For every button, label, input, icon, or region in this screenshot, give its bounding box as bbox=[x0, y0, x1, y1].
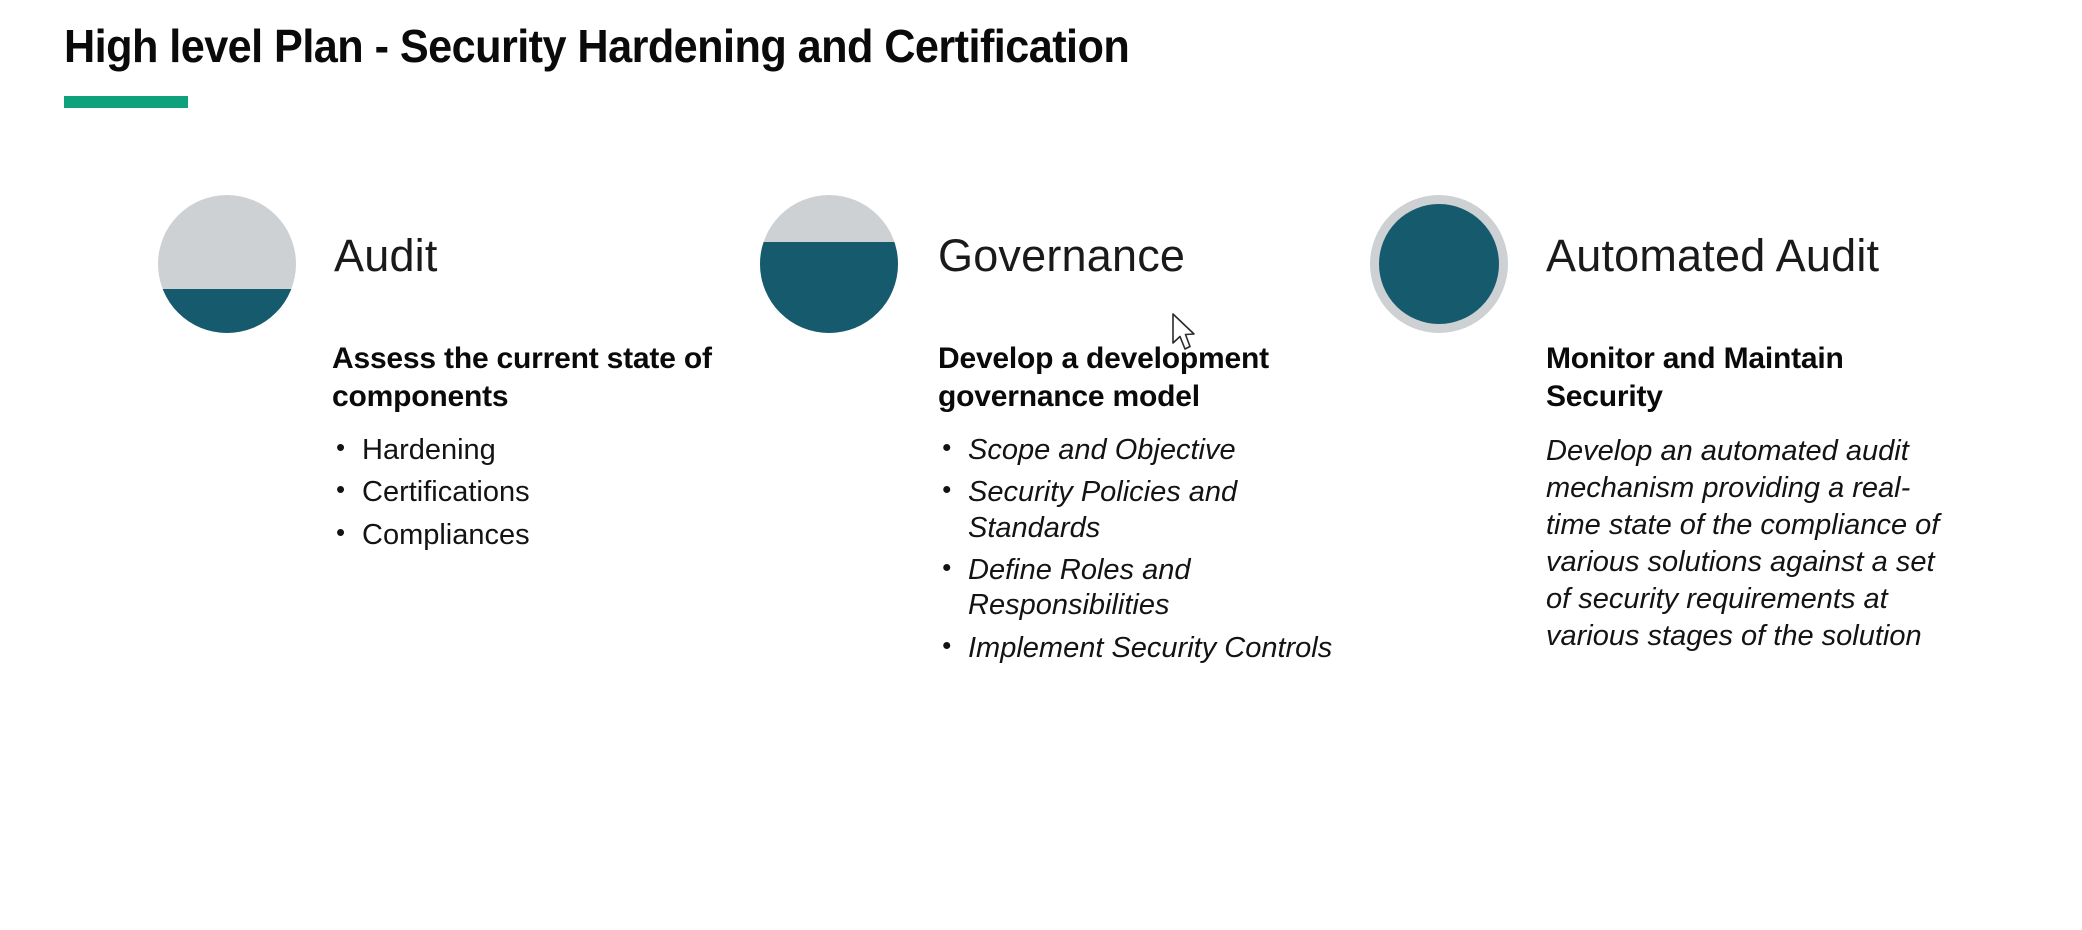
column-title-governance: Governance bbox=[938, 230, 1185, 282]
column-subtitle-governance: Develop a development governance model bbox=[938, 340, 1338, 417]
slide-canvas: High level Plan - Security Hardening and… bbox=[0, 0, 2082, 930]
columns-container: Audit Assess the current state of compon… bbox=[0, 190, 2082, 890]
gauge-icon-audit bbox=[158, 195, 296, 333]
page-title: High level Plan - Security Hardening and… bbox=[64, 22, 1129, 72]
list-item: Hardening bbox=[332, 433, 752, 468]
column-automated-audit: Automated Audit Monitor and Maintain Sec… bbox=[1370, 190, 1990, 340]
list-item: Certifications bbox=[332, 475, 752, 510]
column-title-automated-audit: Automated Audit bbox=[1546, 230, 1879, 282]
column-header-audit: Audit bbox=[158, 190, 758, 340]
column-title-audit: Audit bbox=[334, 230, 438, 282]
gauge-icon-governance bbox=[760, 195, 898, 333]
gauge-icon-automated-audit bbox=[1370, 195, 1508, 333]
column-governance: Governance Develop a development governa… bbox=[760, 190, 1360, 340]
list-item: Scope and Objective bbox=[938, 433, 1338, 468]
list-item: Implement Security Controls bbox=[938, 631, 1338, 666]
bullet-list-audit: HardeningCertificationsCompliances bbox=[332, 433, 752, 553]
column-body-audit: Assess the current state of components H… bbox=[332, 340, 752, 560]
column-header-automated-audit: Automated Audit bbox=[1370, 190, 1990, 340]
list-item: Security Policies and Standards bbox=[938, 475, 1338, 546]
column-body-governance: Develop a development governance model S… bbox=[938, 340, 1338, 673]
column-subtitle-automated-audit: Monitor and Maintain Security bbox=[1546, 340, 1966, 417]
list-item: Compliances bbox=[332, 518, 752, 553]
column-paragraph-automated-audit: Develop an automated audit mechanism pro… bbox=[1546, 433, 1946, 656]
title-accent-bar bbox=[64, 96, 188, 108]
column-header-governance: Governance bbox=[760, 190, 1360, 340]
column-subtitle-audit: Assess the current state of components bbox=[332, 340, 752, 417]
bullet-list-governance: Scope and ObjectiveSecurity Policies and… bbox=[938, 433, 1338, 666]
column-audit: Audit Assess the current state of compon… bbox=[158, 190, 758, 340]
column-body-automated-audit: Monitor and Maintain Security Develop an… bbox=[1546, 340, 1966, 655]
list-item: Define Roles and Responsibilities bbox=[938, 553, 1338, 624]
title-block: High level Plan - Security Hardening and… bbox=[64, 22, 1197, 72]
